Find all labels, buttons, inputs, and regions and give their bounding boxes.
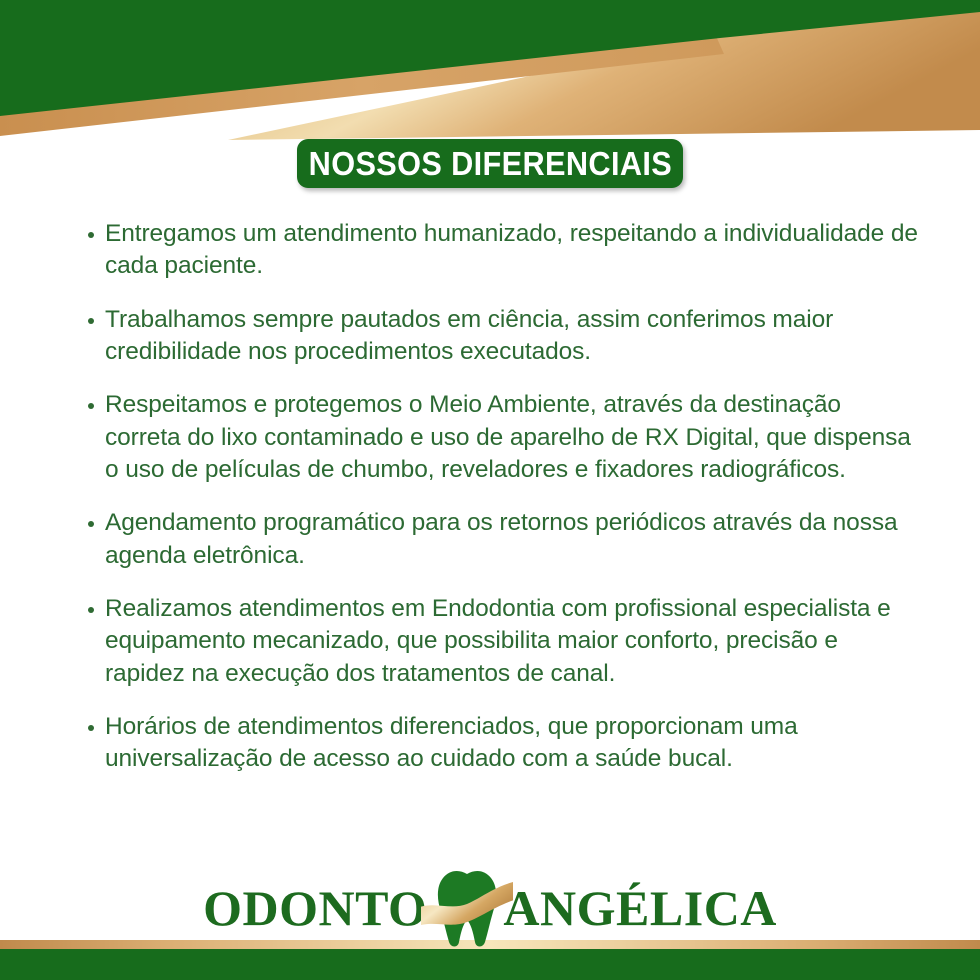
tooth-icon [421, 866, 513, 950]
bullet-dot-icon [88, 403, 94, 409]
poster-canvas: NOSSOS DIFERENCIAIS Entregamos um atendi… [0, 0, 980, 980]
list-item: Horários de atendimentos diferenciados, … [88, 711, 918, 776]
list-item-text: Respeitamos e protegemos o Meio Ambiente… [105, 389, 918, 486]
bullet-dot-icon [88, 607, 94, 613]
logo-word-angelica: ANGÉLICA [503, 883, 776, 933]
section-title-badge: NOSSOS DIFERENCIAIS [297, 139, 683, 188]
bullet-dot-icon [88, 725, 94, 731]
list-item-text: Realizamos atendimentos em Endodontia co… [105, 593, 918, 690]
list-item-text: Entregamos um atendimento humanizado, re… [105, 218, 918, 283]
brand-logo: ODONTO ANGÉLICA [0, 866, 980, 950]
green-band-bottom [0, 949, 980, 980]
list-item-text: Agendamento programático para os retorno… [105, 507, 918, 572]
list-item: Agendamento programático para os retorno… [88, 507, 918, 572]
list-item: Realizamos atendimentos em Endodontia co… [88, 593, 918, 690]
list-item-text: Trabalhamos sempre pautados em ciência, … [105, 304, 918, 369]
gold-stripe-top-left [0, 36, 724, 136]
bullet-dot-icon [88, 521, 94, 527]
bullet-dot-icon [88, 318, 94, 324]
gold-band-top-right [660, 0, 980, 130]
list-item: Respeitamos e protegemos o Meio Ambiente… [88, 389, 918, 486]
differentials-list: Entregamos um atendimento humanizado, re… [88, 218, 918, 797]
bullet-dot-icon [88, 232, 94, 238]
green-band-top [0, 0, 980, 116]
list-item: Entregamos um atendimento humanizado, re… [88, 218, 918, 283]
page-title: NOSSOS DIFERENCIAIS [308, 147, 671, 180]
list-item: Trabalhamos sempre pautados em ciência, … [88, 304, 918, 369]
logo-word-odonto: ODONTO [203, 883, 427, 933]
list-item-text: Horários de atendimentos diferenciados, … [105, 711, 918, 776]
